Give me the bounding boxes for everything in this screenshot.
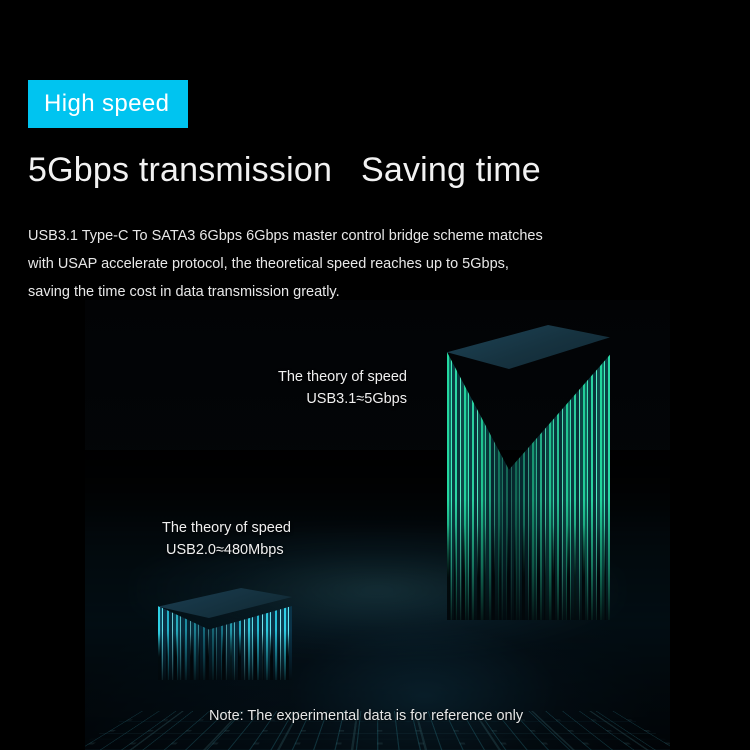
bar-usb20-front — [158, 606, 292, 680]
bar-usb31-front — [447, 352, 610, 620]
bar-usb31-base-fade — [447, 500, 610, 620]
annotation-usb20-line-1: The theory of speed — [162, 520, 291, 536]
page-title: 5Gbps transmission Saving time — [28, 150, 541, 191]
high-speed-badge-label: High speed — [44, 92, 169, 116]
bar-usb31-top-edge-highlight — [447, 325, 610, 369]
annotation-usb31-line-1: The theory of speed — [278, 369, 407, 385]
chart-footnote: Note: The experimental data is for refer… — [209, 708, 523, 724]
bar-usb20-base-fade — [158, 630, 292, 680]
description-line-2: with USAP accelerate protocol, the theor… — [28, 250, 588, 278]
high-speed-badge: High speed — [28, 80, 188, 128]
annotation-usb31: The theory of speed USB3.1≈5Gbps — [278, 366, 407, 410]
product-feature-page: High speed 5Gbps transmission Saving tim… — [0, 0, 750, 750]
annotation-usb31-line-2: USB3.1≈5Gbps — [278, 388, 407, 410]
description-paragraph: USB3.1 Type-C To SATA3 6Gbps 6Gbps maste… — [28, 222, 588, 306]
description-line-1: USB3.1 Type-C To SATA3 6Gbps 6Gbps maste… — [28, 222, 588, 250]
annotation-usb20: The theory of speed USB2.0≈480Mbps — [162, 517, 291, 561]
bar-usb31 — [447, 325, 610, 620]
bar-usb20 — [158, 588, 292, 680]
annotation-usb20-line-2: USB2.0≈480Mbps — [166, 539, 291, 561]
